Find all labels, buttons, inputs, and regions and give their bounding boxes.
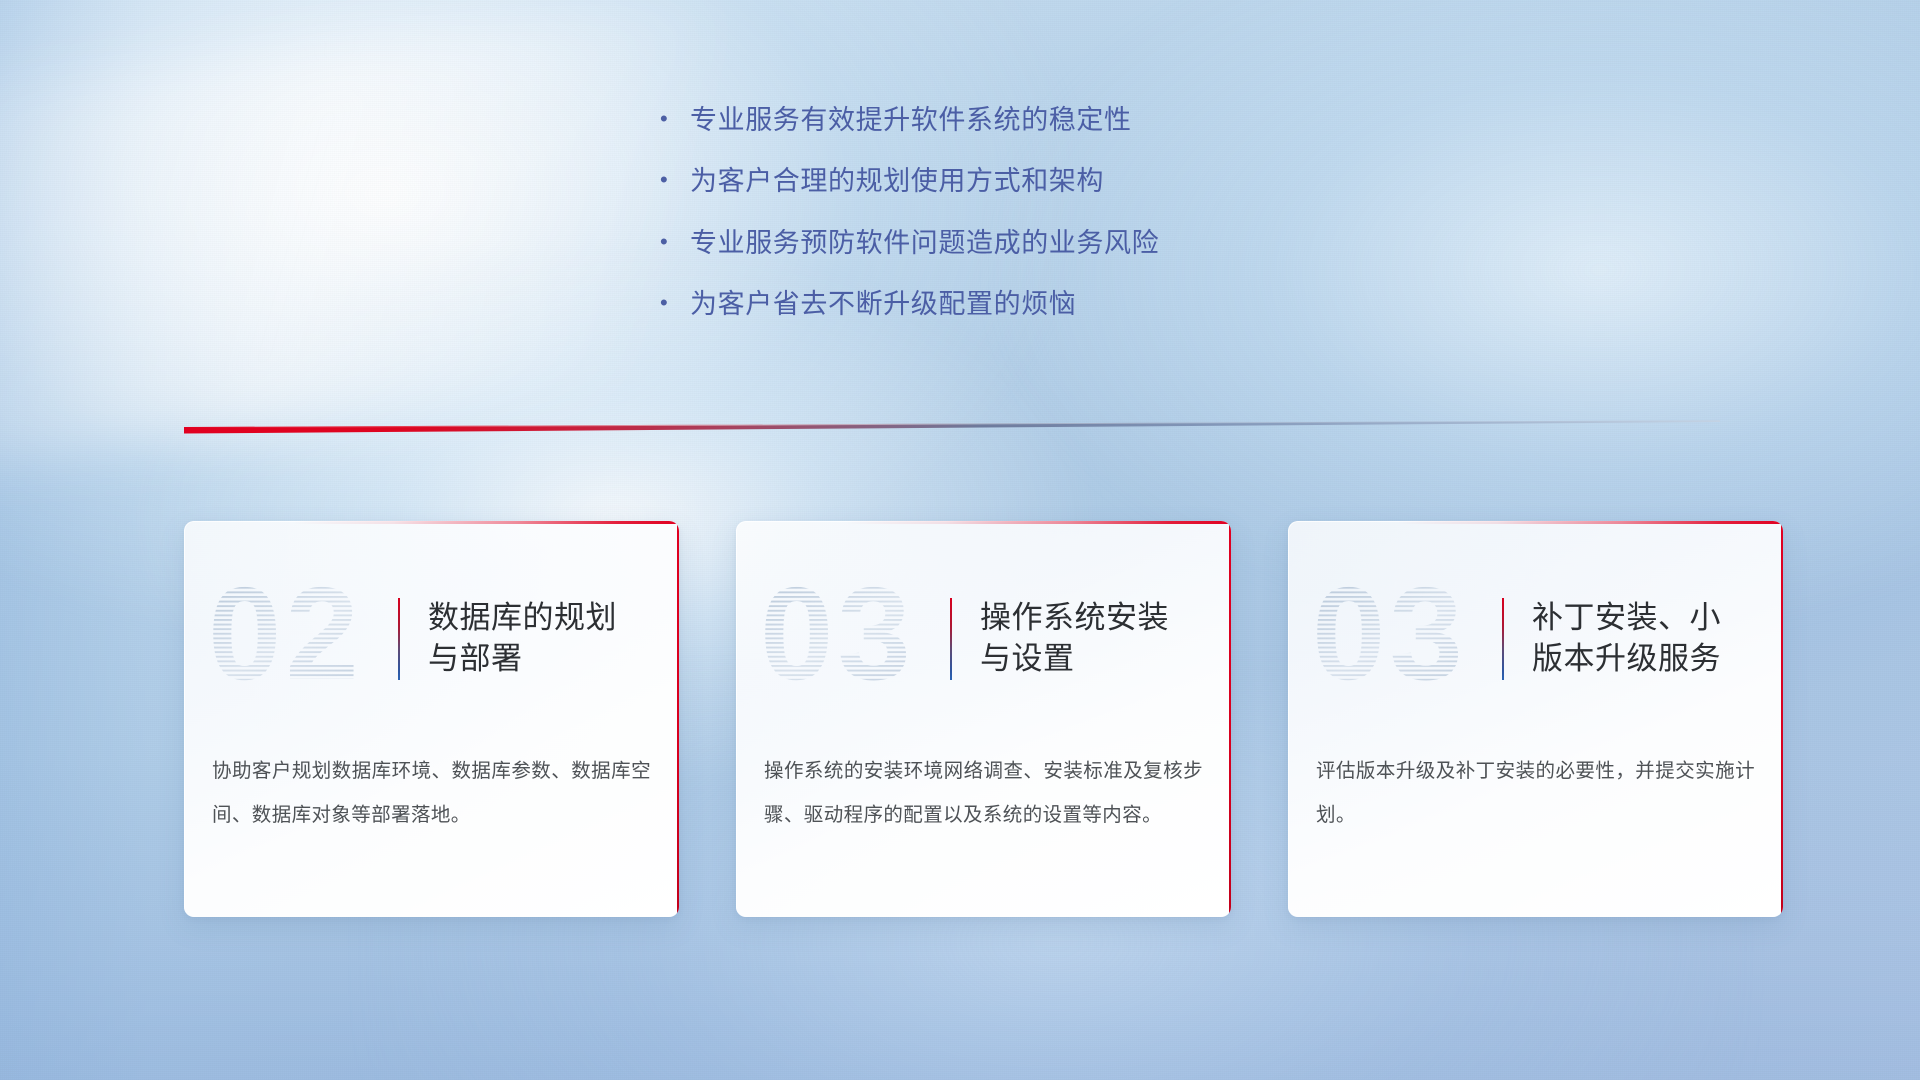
- list-item: 为客户省去不断升级配置的烦恼: [660, 288, 1560, 320]
- card-title: 操作系统安装 与设置: [980, 598, 1169, 680]
- card-accent-top-border: [293, 521, 679, 524]
- card-description: 协助客户规划数据库环境、数据库参数、数据库空间、数据库对象等部署落地。: [212, 749, 651, 838]
- bullet-dot-icon: [660, 108, 690, 130]
- card-title-line-1: 操作系统安装: [980, 598, 1169, 639]
- tapered-gradient-divider: [182, 416, 1722, 442]
- card-title-line-2: 版本升级服务: [1532, 639, 1721, 680]
- card-title-line-2: 与部署: [428, 639, 617, 680]
- card-header: 03 操作系统安装 与设置: [736, 569, 1231, 709]
- list-item: 专业服务有效提升软件系统的稳定性: [660, 104, 1560, 136]
- bullet-text: 为客户合理的规划使用方式和架构: [690, 165, 1104, 197]
- bullet-dot-icon: [660, 292, 690, 314]
- card-title-rule: [398, 598, 400, 680]
- card-header: 02 数据库的规划 与部署: [184, 569, 679, 709]
- svg-text:03: 03: [760, 573, 915, 705]
- list-item: 专业服务预防软件问题造成的业务风险: [660, 227, 1560, 259]
- ghost-number-01-icon: 02: [208, 573, 398, 705]
- card-accent-top-border: [845, 521, 1231, 524]
- ghost-number-02-icon: 03: [760, 573, 950, 705]
- card-title: 补丁安装、小 版本升级服务: [1532, 598, 1721, 680]
- bullet-text: 专业服务预防软件问题造成的业务风险: [690, 227, 1159, 259]
- ghost-number-svg: 03: [760, 573, 950, 705]
- service-card-02[interactable]: 03 操作系统安装 与设置 操作系统的安装环境网络调查、安装标准及复核步骤、驱动…: [736, 521, 1231, 917]
- svg-text:02: 02: [208, 573, 363, 705]
- divider-svg: [182, 416, 1722, 442]
- service-card-01[interactable]: 02 数据库的规划 与部署 协助客户规划数据库环境、数据库参数、数据库空间、数据…: [184, 521, 679, 917]
- ghost-number-svg: 02: [208, 573, 398, 705]
- card-title-line-2: 与设置: [980, 639, 1169, 680]
- service-card-03[interactable]: 03 补丁安装、小 版本升级服务 评估版本升级及补丁安装的必要性，并提交实施计划…: [1288, 521, 1783, 917]
- slide-canvas: 专业服务有效提升软件系统的稳定性 为客户合理的规划使用方式和架构 专业服务预防软…: [0, 0, 1920, 1080]
- card-description: 评估版本升级及补丁安装的必要性，并提交实施计划。: [1316, 749, 1755, 838]
- ghost-number-03-icon: 03: [1312, 573, 1502, 705]
- bullet-text: 专业服务有效提升软件系统的稳定性: [690, 104, 1132, 136]
- card-title-rule: [1502, 598, 1504, 680]
- card-title-line-1: 数据库的规划: [428, 598, 617, 639]
- card-title: 数据库的规划 与部署: [428, 598, 617, 680]
- bullet-dot-icon: [660, 169, 690, 191]
- ghost-number-svg: 03: [1312, 573, 1502, 705]
- card-title-line-1: 补丁安装、小: [1532, 598, 1721, 639]
- service-card-group: 02 数据库的规划 与部署 协助客户规划数据库环境、数据库参数、数据库空间、数据…: [184, 521, 1784, 917]
- card-description: 操作系统的安装环境网络调查、安装标准及复核步骤、驱动程序的配置以及系统的设置等内…: [764, 749, 1203, 838]
- bullet-dot-icon: [660, 231, 690, 253]
- card-header: 03 补丁安装、小 版本升级服务: [1288, 569, 1783, 709]
- benefits-bullet-list: 专业服务有效提升软件系统的稳定性 为客户合理的规划使用方式和架构 专业服务预防软…: [660, 104, 1560, 350]
- list-item: 为客户合理的规划使用方式和架构: [660, 165, 1560, 197]
- card-accent-top-border: [1397, 521, 1783, 524]
- svg-text:03: 03: [1312, 573, 1467, 705]
- bullet-text: 为客户省去不断升级配置的烦恼: [690, 288, 1076, 320]
- card-title-rule: [950, 598, 952, 680]
